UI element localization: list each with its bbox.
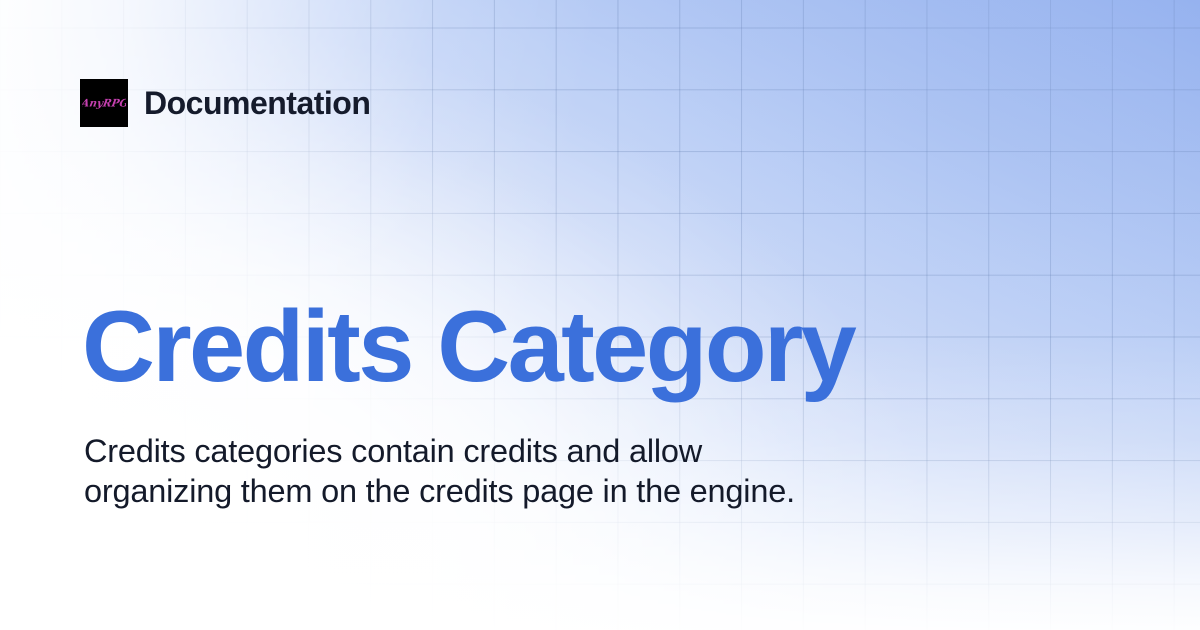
brand-header: AnyRPG Documentation bbox=[80, 79, 370, 127]
og-banner-card: AnyRPG Documentation Credits Category Cr… bbox=[0, 0, 1200, 630]
svg-text:AnyRPG: AnyRPG bbox=[82, 97, 126, 109]
brand-name-label: Documentation bbox=[144, 87, 370, 119]
page-title: Credits Category bbox=[82, 296, 854, 399]
page-description: Credits categories contain credits and a… bbox=[84, 431, 854, 511]
anyrpg-logo-icon: AnyRPG bbox=[80, 79, 128, 127]
banner-content: AnyRPG Documentation Credits Category Cr… bbox=[0, 0, 1200, 630]
